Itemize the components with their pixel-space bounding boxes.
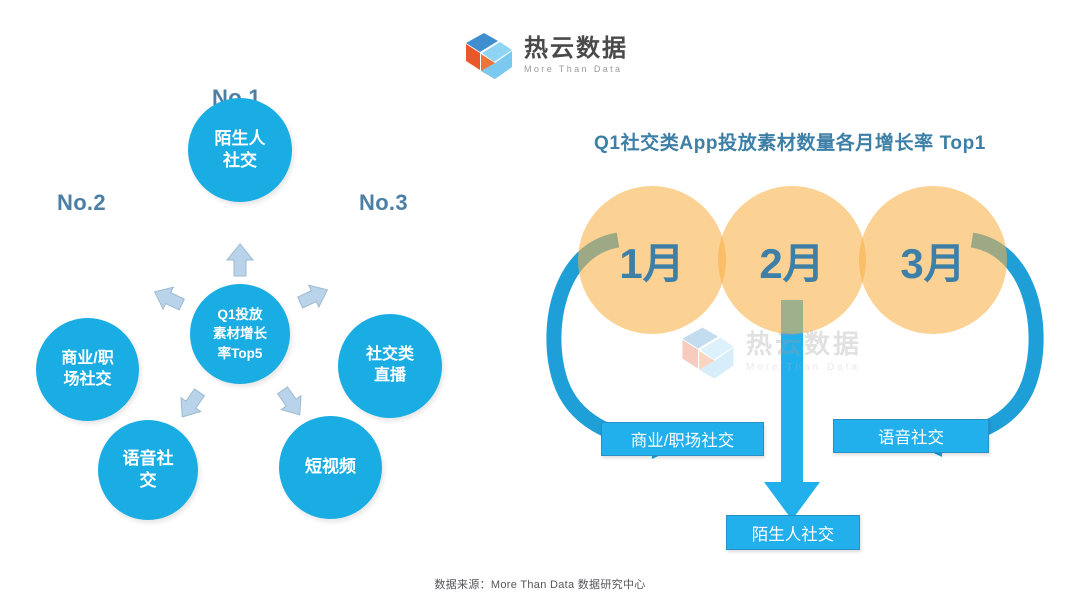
rank-label-3: No.3 xyxy=(359,190,408,216)
pentagon-arrow-icon xyxy=(295,279,332,313)
category-node-1-line1: 陌生人 xyxy=(215,128,266,150)
pentagon-arrow-icon xyxy=(172,385,209,423)
category-node-2-line1: 商业/职 xyxy=(61,349,113,370)
center-line-2: 素材增长 xyxy=(213,324,267,344)
result-chip-2[interactable]: 陌生人社交 xyxy=(726,515,860,550)
month-circle-1-label: 1月 xyxy=(619,230,684,291)
month-circle-2-label: 2月 xyxy=(759,230,824,291)
diagram-center-node[interactable]: Q1投放 素材增长 率Top5 xyxy=(190,284,290,384)
category-node-3[interactable]: 社交类 直播 xyxy=(338,314,442,418)
category-node-4[interactable]: 语音社 交 xyxy=(98,420,198,520)
pentagon-arrow-icon xyxy=(150,281,187,315)
result-chip-3[interactable]: 语音社交 xyxy=(833,419,989,453)
rank-label-2: No.2 xyxy=(57,190,106,216)
result-chip-3-label: 语音社交 xyxy=(878,424,944,448)
category-node-4-line2: 交 xyxy=(140,470,157,492)
pentagon-arrow-icon xyxy=(273,383,310,421)
month-circle-1[interactable]: 1月 xyxy=(578,186,726,334)
month-circle-3-label: 3月 xyxy=(900,230,965,291)
category-node-1-line2: 社交 xyxy=(223,150,257,172)
center-line-3: 率Top5 xyxy=(218,344,263,364)
infographic-canvas: 热云数据 More Than Data xyxy=(0,0,1080,608)
month-circle-3[interactable]: 3月 xyxy=(859,186,1007,334)
source-footer: 数据来源：More Than Data 数据研究中心 xyxy=(0,576,1080,592)
result-chip-1-label: 商业/职场社交 xyxy=(631,427,735,451)
category-node-1[interactable]: 陌生人 社交 xyxy=(188,98,292,202)
watermark-tagline: More Than Data xyxy=(746,362,862,373)
center-line-1: Q1投放 xyxy=(217,305,262,325)
category-node-5-line1: 短视频 xyxy=(305,456,356,478)
result-chip-2-label: 陌生人社交 xyxy=(752,521,835,545)
category-node-2[interactable]: 商业/职 场社交 xyxy=(36,318,139,421)
category-node-3-line2: 直播 xyxy=(374,366,406,387)
top5-radial-diagram: No.1 No.2 No.3 No.4 No.5 陌生人 社交 商业/职 场社交… xyxy=(0,86,500,546)
result-chip-1[interactable]: 商业/职场社交 xyxy=(601,422,764,456)
category-node-2-line2: 场社交 xyxy=(63,370,111,391)
panel-title: Q1社交类App投放素材数量各月增长率 Top1 xyxy=(500,128,1080,155)
monthly-top1-panel: Q1社交类App投放素材数量各月增长率 Top1 1月 xyxy=(500,0,1080,608)
month-venn-group: 1月 2月 3月 xyxy=(578,186,1014,336)
category-node-3-line1: 社交类 xyxy=(366,345,414,366)
pentagon-arrow-icon xyxy=(227,244,253,276)
category-node-4-line1: 语音社 xyxy=(123,448,174,470)
category-node-5[interactable]: 短视频 xyxy=(279,416,382,519)
month-circle-2[interactable]: 2月 xyxy=(718,186,866,334)
